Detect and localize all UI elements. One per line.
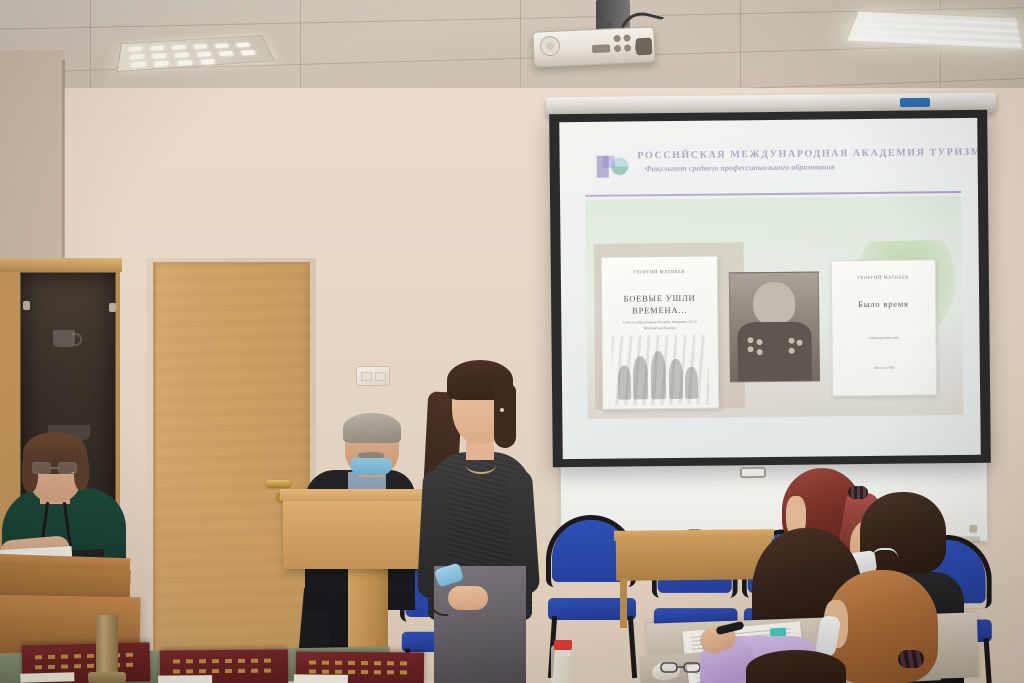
screen-housing-endcap [900, 98, 930, 107]
projector-lens [636, 38, 653, 56]
book-right-imprint: Москва 1998 [832, 365, 935, 370]
veteran-uniform [737, 321, 812, 381]
projected-slide: РОССИЙСКАЯ МЕЖДУНАРОДНАЯ АКАДЕМИЯ ТУРИЗМ… [585, 145, 964, 419]
speaker-hair-side [494, 384, 516, 448]
student-mask-strap [872, 548, 898, 560]
book-right-title: Было время [832, 298, 935, 311]
red-bound-book[interactable] [296, 651, 424, 683]
mask-strap [430, 576, 448, 616]
eyeglasses-bridge [51, 467, 59, 469]
eyeglasses-icon [32, 462, 51, 474]
slide-institution-title: РОССИЙСКАЯ МЕЖДУНАРОДНАЯ АКАДЕМИЯ ТУРИЗМ… [637, 147, 961, 161]
hair-tie [898, 650, 924, 668]
speaker-necklace [466, 456, 496, 474]
candle-base [88, 672, 126, 683]
speaker-earring [500, 408, 504, 412]
eyeglasses-icon [660, 660, 704, 674]
red-bound-book[interactable] [22, 642, 151, 683]
book-left-title: БОЕВЫЕ УШЛИ ВРЕМЕНА... [602, 293, 717, 317]
classroom-door[interactable] [153, 262, 310, 678]
wooden-desk-front [616, 537, 772, 581]
wooden-desk-leg [620, 578, 627, 628]
book-left-cover-art [612, 335, 709, 405]
seated-man-mask [350, 458, 392, 475]
book-right-author: ГЕОРГИЙ МАТВЕЕВ [831, 274, 934, 280]
book-left-author: ГЕОРГИЙ МАТВЕЕВ [602, 269, 717, 275]
cabinet-cup [53, 330, 75, 347]
book-left-subtitle: Стихи и фронтовые баллады ветерана 113-й… [602, 320, 717, 333]
slide-veteran-portrait [729, 272, 820, 382]
speaker-hands [448, 586, 488, 610]
slide-faculty-subtitle: Факультет среднего профессионального обр… [645, 161, 961, 173]
screen-pull-handle[interactable] [740, 467, 766, 478]
slide-header: РОССИЙСКАЯ МЕЖДУНАРОДНАЯ АКАДЕМИЯ ТУРИЗМ… [585, 145, 962, 192]
red-bound-book[interactable] [160, 649, 288, 683]
classroom-photo: РОССИЙСКАЯ МЕЖДУНАРОДНАЯ АКАДЕМИЯ ТУРИЗМ… [0, 0, 1024, 683]
cabinet-top-panel [0, 258, 122, 272]
hair-tie [848, 486, 868, 499]
eyeglasses-icon [58, 462, 77, 474]
slide-background-photo: ГЕОРГИЙ МАТВЕЕВ БОЕВЫЕ УШЛИ ВРЕМЕНА... С… [585, 196, 963, 418]
slide-book-cover-left: ГЕОРГИЙ МАТВЕЕВ БОЕВЫЕ УШЛИ ВРЕМЕНА... С… [601, 255, 719, 409]
wall-switch-plate[interactable] [356, 366, 390, 386]
screen-surface: РОССИЙСКАЯ МЕЖДУНАРОДНАЯ АКАДЕМИЯ ТУРИЗМ… [559, 118, 981, 459]
veteran-face [753, 282, 796, 325]
door-handle[interactable] [266, 480, 290, 487]
slide-book-cover-right: ГЕОРГИЙ МАТВЕЕВ Было время Стихи разных … [830, 260, 937, 396]
book-right-subtitle: Стихи разных лет [832, 335, 935, 342]
seated-man-hair [343, 413, 401, 443]
projection-screen: РОССИЙСКАЯ МЕЖДУНАРОДНАЯ АКАДЕМИЯ ТУРИЗМ… [549, 110, 991, 468]
bottle-cap[interactable] [554, 640, 572, 650]
rmat-logo-icon [592, 151, 634, 181]
student-foreground-head [746, 650, 846, 683]
